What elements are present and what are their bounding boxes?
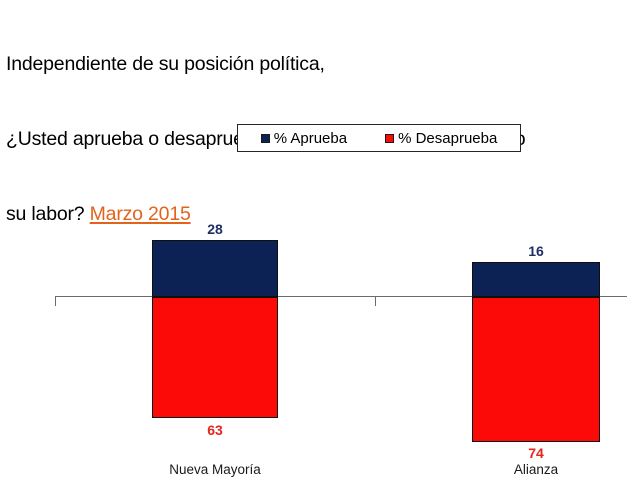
value-label-desaprueba-alianza: 74: [472, 446, 600, 460]
bar-desaprueba-nueva-mayoria[interactable]: [152, 297, 278, 418]
category-label-alianza: Alianza: [466, 462, 606, 477]
value-label-aprueba-nueva-mayoria: 28: [152, 222, 278, 236]
chart-page: Independiente de su posición política, ¿…: [0, 0, 635, 490]
bar-aprueba-alianza[interactable]: [472, 262, 600, 297]
category-label-nueva-mayoria: Nueva Mayoría: [135, 462, 295, 477]
value-label-desaprueba-nueva-mayoria: 63: [152, 423, 278, 437]
value-label-aprueba-alianza: 16: [472, 244, 600, 258]
plot-area: 28 63 Nueva Mayoría 16 74 Alianza: [0, 0, 635, 490]
axis-tick-category-separator: [375, 297, 376, 306]
axis-tick-start: [55, 297, 56, 306]
bar-desaprueba-alianza[interactable]: [472, 297, 600, 442]
bar-aprueba-nueva-mayoria[interactable]: [152, 240, 278, 297]
